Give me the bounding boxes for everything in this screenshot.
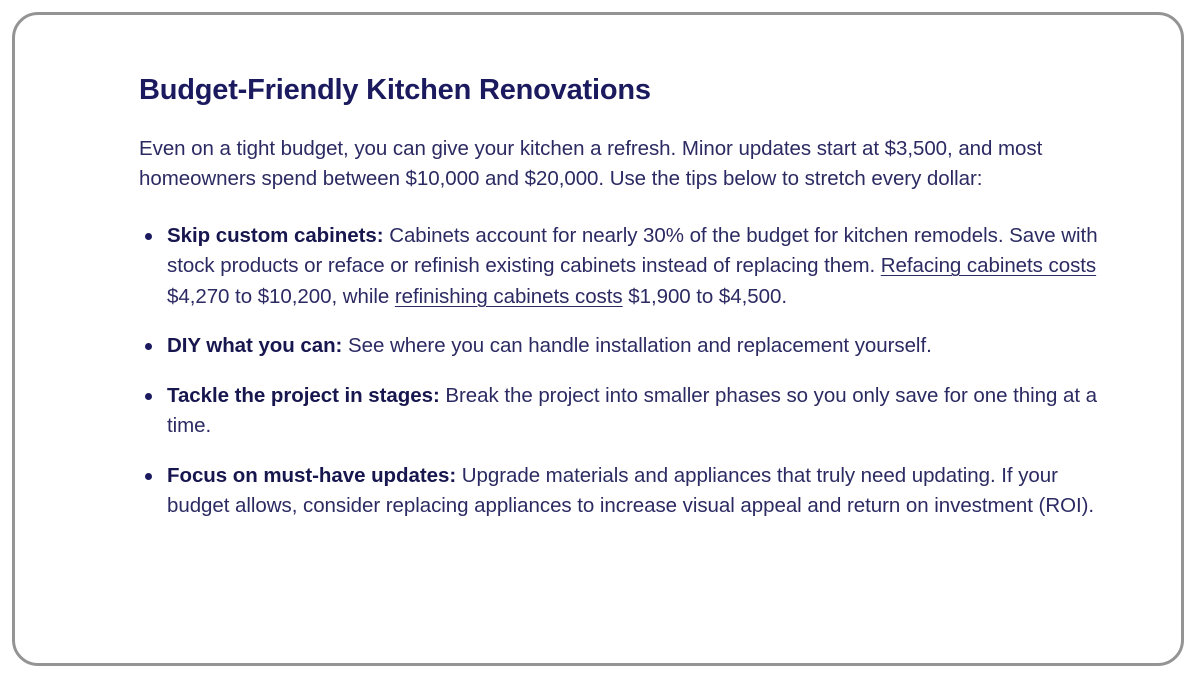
tips-list: Skip custom cabinets: Cabinets account f… <box>139 221 1111 522</box>
content-card: Budget-Friendly Kitchen Renovations Even… <box>12 12 1184 666</box>
refacing-cabinets-costs-link[interactable]: Refacing cabinets costs <box>881 254 1096 277</box>
page-title: Budget-Friendly Kitchen Renovations <box>139 73 1111 108</box>
intro-paragraph: Even on a tight budget, you can give you… <box>139 134 1104 195</box>
list-item-text-between: $4,270 to $10,200, while <box>167 285 395 308</box>
bullet-icon <box>145 473 152 480</box>
list-item: Skip custom cabinets: Cabinets account f… <box>139 221 1111 313</box>
list-item-text: See where you can handle installation an… <box>342 334 931 357</box>
card-content: Budget-Friendly Kitchen Renovations Even… <box>15 15 1181 522</box>
list-item: Focus on must-have updates: Upgrade mate… <box>139 461 1111 522</box>
bullet-icon <box>145 343 152 350</box>
list-item-lead: Skip custom cabinets: <box>167 224 384 247</box>
list-item-lead: Focus on must-have updates: <box>167 464 456 487</box>
list-item-lead: Tackle the project in stages: <box>167 384 440 407</box>
list-item-lead: DIY what you can: <box>167 334 342 357</box>
list-item: Tackle the project in stages: Break the … <box>139 381 1111 442</box>
refinishing-cabinets-costs-link[interactable]: refinishing cabinets costs <box>395 285 623 308</box>
list-item-text-tail: $1,900 to $4,500. <box>623 285 787 308</box>
bullet-icon <box>145 233 152 240</box>
list-item: DIY what you can: See where you can hand… <box>139 331 1111 362</box>
bullet-icon <box>145 393 152 400</box>
